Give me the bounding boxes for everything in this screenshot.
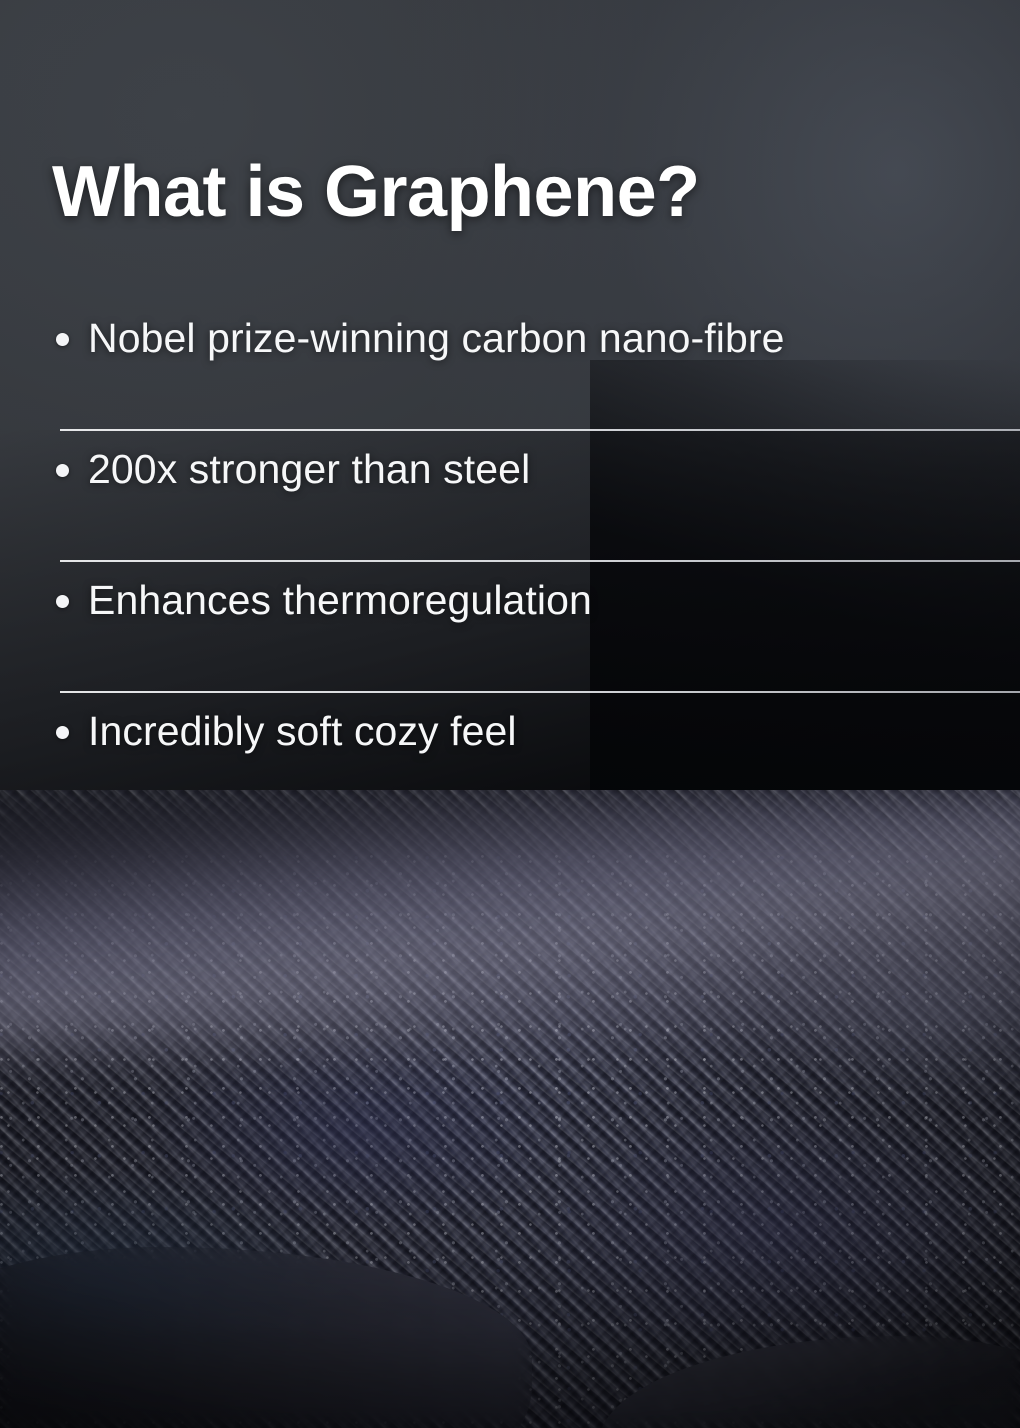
- list-item: 200x stronger than steel: [0, 431, 1020, 562]
- bullet-dot-icon: [56, 333, 69, 346]
- feature-list: Nobel prize-winning carbon nano-fibre 20…: [0, 300, 1020, 824]
- poster-canvas: What is Graphene? Nobel prize-winning ca…: [0, 0, 1020, 1428]
- feature-text: Enhances thermoregulation: [88, 562, 592, 621]
- feature-text: Nobel prize-winning carbon nano-fibre: [88, 300, 785, 359]
- fabric-photo: [0, 790, 1020, 1428]
- fabric-blurred-top-edge: [0, 790, 1020, 1050]
- bullet-dot-icon: [56, 464, 69, 477]
- feature-text: 200x stronger than steel: [88, 431, 530, 490]
- list-item: Nobel prize-winning carbon nano-fibre: [0, 300, 1020, 431]
- feature-text: Incredibly soft cozy feel: [88, 693, 517, 752]
- page-title: What is Graphene?: [52, 156, 700, 228]
- bullet-dot-icon: [56, 726, 69, 739]
- bullet-dot-icon: [56, 595, 69, 608]
- list-item: Enhances thermoregulation: [0, 562, 1020, 693]
- list-item: Incredibly soft cozy feel: [0, 693, 1020, 824]
